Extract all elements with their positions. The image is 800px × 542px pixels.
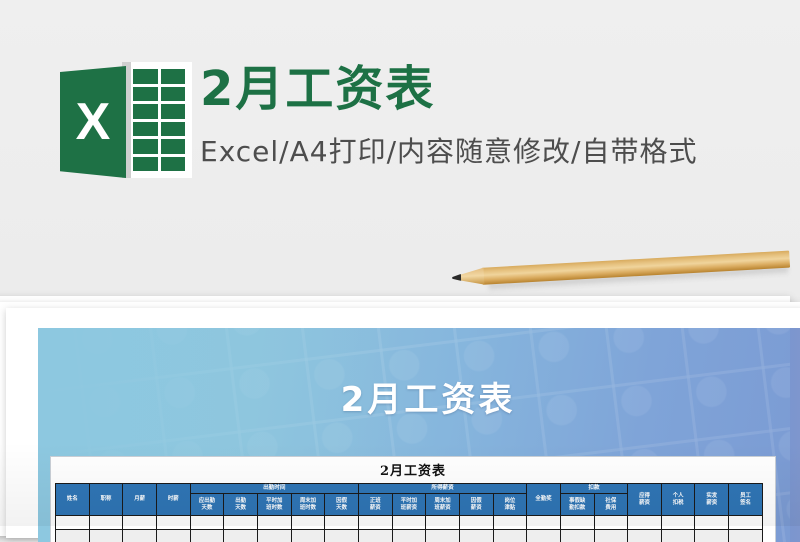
- column-header-因假薪资: 因假薪资: [459, 494, 493, 516]
- excel-logo-letter: X: [60, 66, 126, 178]
- header-banner: X 2月工资表 Excel/A4打印/内容随意修改/自带格式: [0, 0, 800, 262]
- table-cell[interactable]: [358, 530, 392, 542]
- template-preview-stack: 2月工资表 2月工资表 姓名职称月薪时薪出勤时间所得薪资全勤奖扣款应得薪资个人扣…: [0, 296, 800, 536]
- table-cell[interactable]: [89, 516, 123, 530]
- table-cell[interactable]: [392, 516, 426, 530]
- table-cell[interactable]: [224, 516, 258, 530]
- header-line: 天数: [224, 505, 257, 511]
- table-cell[interactable]: [426, 516, 460, 530]
- table-cell[interactable]: [594, 530, 628, 542]
- table-cell[interactable]: [493, 530, 527, 542]
- header-line: 扣税: [662, 500, 695, 506]
- table-cell[interactable]: [661, 530, 695, 542]
- table-cell[interactable]: [459, 530, 493, 542]
- table-cell[interactable]: [325, 516, 359, 530]
- column-header-员工签名: 员工签名: [729, 484, 763, 516]
- excel-logo: X: [60, 62, 192, 178]
- paper-sheet-front[interactable]: 2月工资表 2月工资表 姓名职称月薪时薪出勤时间所得薪资全勤奖扣款应得薪资个人扣…: [6, 308, 800, 538]
- salary-table[interactable]: 姓名职称月薪时薪出勤时间所得薪资全勤奖扣款应得薪资个人扣税实发薪资员工签名 应出…: [55, 483, 763, 542]
- table-cell[interactable]: [493, 516, 527, 530]
- table-cell[interactable]: [695, 530, 729, 542]
- header-line: 薪资: [460, 505, 493, 511]
- group-header-扣款: 扣款: [560, 484, 627, 494]
- table-cell[interactable]: [123, 516, 157, 530]
- group-header-row: 姓名职称月薪时薪出勤时间所得薪资全勤奖扣款应得薪资个人扣税实发薪资员工签名: [56, 484, 763, 494]
- table-cell[interactable]: [190, 530, 224, 542]
- header-line: 时薪: [157, 496, 190, 502]
- table-cell[interactable]: [560, 530, 594, 542]
- table-cell[interactable]: [695, 516, 729, 530]
- column-header-实发薪资: 实发薪资: [695, 484, 729, 516]
- page-subtitle: Excel/A4打印/内容随意修改/自带格式: [200, 130, 697, 170]
- column-header-事假缺勤扣款: 事假缺勤扣款: [560, 494, 594, 516]
- column-header-全勤奖: 全勤奖: [527, 484, 561, 516]
- column-header-应得薪资: 应得薪资: [628, 484, 662, 516]
- table-cell[interactable]: [291, 516, 325, 530]
- page-title: 2月工资表: [200, 62, 435, 117]
- column-header-职称: 职称: [89, 484, 123, 516]
- table-cell[interactable]: [628, 516, 662, 530]
- header-line: 天数: [191, 505, 224, 511]
- column-header-时薪: 时薪: [156, 484, 190, 516]
- header-line: 薪资: [695, 500, 728, 506]
- table-cell[interactable]: [459, 516, 493, 530]
- header-line: 姓名: [56, 496, 89, 502]
- header-line: 天数: [325, 505, 358, 511]
- table-cell[interactable]: [156, 516, 190, 530]
- column-header-周末加班薪资: 周末加班薪资: [426, 494, 460, 516]
- header-line: 津贴: [494, 505, 527, 511]
- preview-right-edge: [790, 328, 800, 542]
- table-cell[interactable]: [257, 516, 291, 530]
- column-header-岗位津贴: 岗位津贴: [493, 494, 527, 516]
- column-header-出勤天数: 出勤天数: [224, 494, 258, 516]
- group-header-出勤时间: 出勤时间: [190, 484, 358, 494]
- table-cell[interactable]: [661, 516, 695, 530]
- table-cell[interactable]: [560, 516, 594, 530]
- column-header-平时加班时数: 平时加班时数: [257, 494, 291, 516]
- group-header-所得薪资: 所得薪资: [358, 484, 526, 494]
- column-header-社保费用: 社保费用: [594, 494, 628, 516]
- column-header-平时加班薪资: 平时加班薪资: [392, 494, 426, 516]
- template-preview[interactable]: 2月工资表 2月工资表 姓名职称月薪时薪出勤时间所得薪资全勤奖扣款应得薪资个人扣…: [38, 328, 800, 542]
- header-line: 全勤奖: [527, 496, 560, 502]
- table-cell[interactable]: [56, 516, 90, 530]
- header-line: 月薪: [123, 496, 156, 502]
- worksheet-preview[interactable]: 2月工资表 姓名职称月薪时薪出勤时间所得薪资全勤奖扣款应得薪资个人扣税实发薪资员…: [50, 456, 776, 542]
- column-header-姓名: 姓名: [56, 484, 90, 516]
- header-line: 签名: [729, 500, 762, 506]
- pencil-lead: [452, 274, 461, 281]
- table-cell[interactable]: [628, 530, 662, 542]
- table-cell[interactable]: [358, 516, 392, 530]
- header-line: 班薪资: [426, 505, 459, 511]
- worksheet-title: 2月工资表: [51, 460, 775, 479]
- header-line: 班薪资: [393, 505, 426, 511]
- table-cell[interactable]: [56, 530, 90, 542]
- column-header-正班薪资: 正班薪资: [358, 494, 392, 516]
- table-cell[interactable]: [123, 530, 157, 542]
- header-line: 职称: [90, 496, 123, 502]
- table-cell[interactable]: [392, 530, 426, 542]
- preview-card-title: 2月工资表: [38, 372, 800, 421]
- page-background: X 2月工资表 Excel/A4打印/内容随意修改/自带格式 2月工资表 2月工…: [0, 0, 800, 526]
- table-cell[interactable]: [257, 530, 291, 542]
- header-line: 班时数: [292, 505, 325, 511]
- header-line: 薪资: [359, 505, 392, 511]
- salary-table-head: 姓名职称月薪时薪出勤时间所得薪资全勤奖扣款应得薪资个人扣税实发薪资员工签名 应出…: [56, 484, 763, 516]
- table-cell[interactable]: [426, 530, 460, 542]
- table-cell[interactable]: [89, 530, 123, 542]
- table-row[interactable]: [56, 530, 763, 542]
- header-line: 薪资: [628, 500, 661, 506]
- column-header-应出勤天数: 应出勤天数: [190, 494, 224, 516]
- table-cell[interactable]: [527, 516, 561, 530]
- table-cell[interactable]: [325, 530, 359, 542]
- header-line: 勤扣款: [561, 505, 594, 511]
- table-cell[interactable]: [291, 530, 325, 542]
- salary-table-body: [56, 516, 763, 542]
- header-line: 班时数: [258, 505, 291, 511]
- column-header-因假天数: 因假天数: [325, 494, 359, 516]
- header-line: 费用: [595, 505, 628, 511]
- table-cell[interactable]: [527, 530, 561, 542]
- excel-logo-grid: [133, 69, 185, 171]
- table-row[interactable]: [56, 516, 763, 530]
- table-cell[interactable]: [224, 530, 258, 542]
- table-cell[interactable]: [156, 530, 190, 542]
- column-header-个人扣税: 个人扣税: [661, 484, 695, 516]
- column-header-月薪: 月薪: [123, 484, 157, 516]
- column-header-周末加班时数: 周末加班时数: [291, 494, 325, 516]
- table-cell[interactable]: [729, 530, 763, 542]
- table-cell[interactable]: [594, 516, 628, 530]
- table-cell[interactable]: [190, 516, 224, 530]
- table-cell[interactable]: [729, 516, 763, 530]
